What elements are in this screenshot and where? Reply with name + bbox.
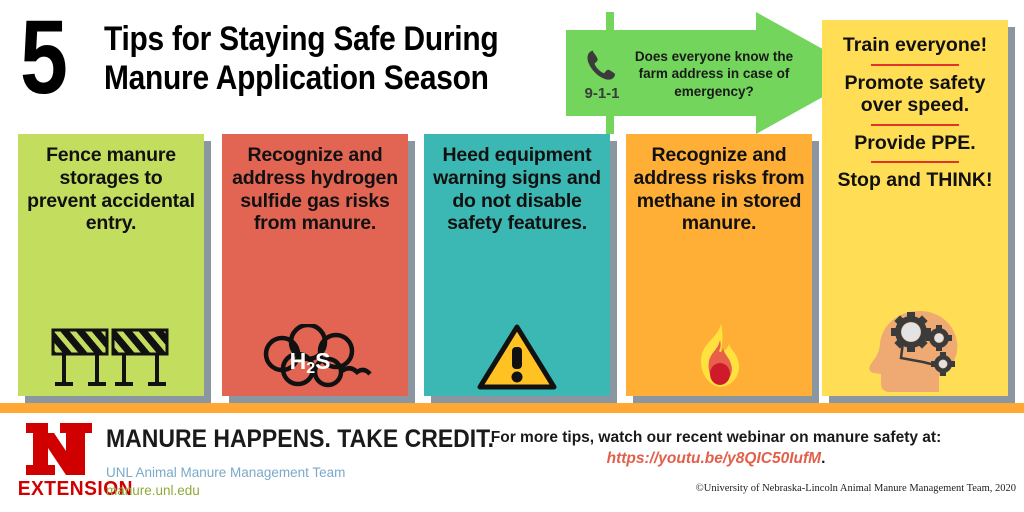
barricade-icon — [51, 328, 171, 390]
nebraska-n-icon — [22, 421, 96, 477]
svg-text:H2S: H2S — [290, 348, 331, 377]
header: 5 Tips for Staying Safe During Manure Ap… — [0, 0, 560, 120]
tip-card-4: Recognize and address risks from methane… — [626, 134, 812, 396]
team-name: UNL Animal Manure Management Team — [106, 465, 345, 480]
flame-icon — [687, 322, 751, 390]
card-body: Recognize and address risks from methane… — [626, 134, 812, 396]
url-period: . — [821, 450, 825, 467]
title-line-1: Tips for Staying Safe During — [104, 20, 500, 59]
webinar-link-wrapper[interactable]: https://youtu.be/y8QIC50IufM. — [420, 450, 1012, 468]
tip-card-4-text: Recognize and address risks from methane… — [632, 144, 806, 235]
tip-card-1-text: Fence manure storages to prevent acciden… — [24, 144, 198, 235]
phone-block: 9-1-1 — [574, 47, 630, 102]
website-link[interactable]: manure.unl.edu — [106, 483, 200, 498]
copyright-notice: ©University of Nebraska-Lincoln Animal M… — [696, 483, 1016, 494]
orange-divider-bar — [0, 403, 1024, 413]
card5-line-1: Train everyone! — [843, 34, 987, 57]
emergency-number: 9-1-1 — [584, 85, 619, 102]
card5-divider — [871, 124, 959, 126]
tip-card-3-text: Heed equipment warning signs and do not … — [430, 144, 604, 235]
title-line-2: Manure Application Season — [104, 59, 500, 98]
card5-line-4: Stop and THINK! — [838, 169, 993, 192]
phone-icon — [582, 47, 622, 87]
extension-wordmark: EXTENSION — [18, 478, 101, 501]
emergency-callout: 9-1-1 Does everyone know the farm addres… — [566, 12, 866, 134]
tip-card-5: Train everyone! Promote safety over spee… — [822, 20, 1008, 396]
footer: EXTENSION MANURE HAPPENS. TAKE CREDIT. U… — [0, 413, 1024, 512]
tip-card-2: Recognize and address hydrogen sulfide g… — [222, 134, 408, 396]
big-number-5: 5 — [20, 12, 65, 104]
card5-divider — [871, 161, 959, 163]
webinar-url-text[interactable]: https://youtu.be/y8QIC50IufM — [607, 450, 821, 467]
card-body: Recognize and address hydrogen sulfide g… — [222, 134, 408, 396]
tip-card-3: Heed equipment warning signs and do not … — [424, 134, 610, 396]
card5-divider — [871, 64, 959, 66]
card-body: Train everyone! Promote safety over spee… — [822, 20, 1008, 396]
card5-line-3: Provide PPE. — [854, 132, 975, 155]
tip-card-2-text: Recognize and address hydrogen sulfide g… — [228, 144, 402, 235]
gas-cloud-icon: H2S — [256, 324, 374, 390]
callout-content: 9-1-1 Does everyone know the farm addres… — [574, 34, 794, 114]
card-body: Fence manure storages to prevent acciden… — [18, 134, 204, 396]
card5-line-2: Promote safety over speed. — [830, 72, 1000, 117]
card-body: Heed equipment warning signs and do not … — [424, 134, 610, 396]
unl-extension-logo: EXTENSION — [16, 421, 102, 503]
warning-triangle-icon — [477, 324, 557, 390]
callout-question: Does everyone know the farm address in c… — [634, 48, 794, 100]
head-with-gears-icon — [863, 304, 967, 392]
page-title: Tips for Staying Safe During Manure Appl… — [104, 20, 500, 98]
more-tips-text: For more tips, watch our recent webinar … — [420, 429, 1012, 447]
tip-card-1: Fence manure storages to prevent acciden… — [18, 134, 204, 396]
